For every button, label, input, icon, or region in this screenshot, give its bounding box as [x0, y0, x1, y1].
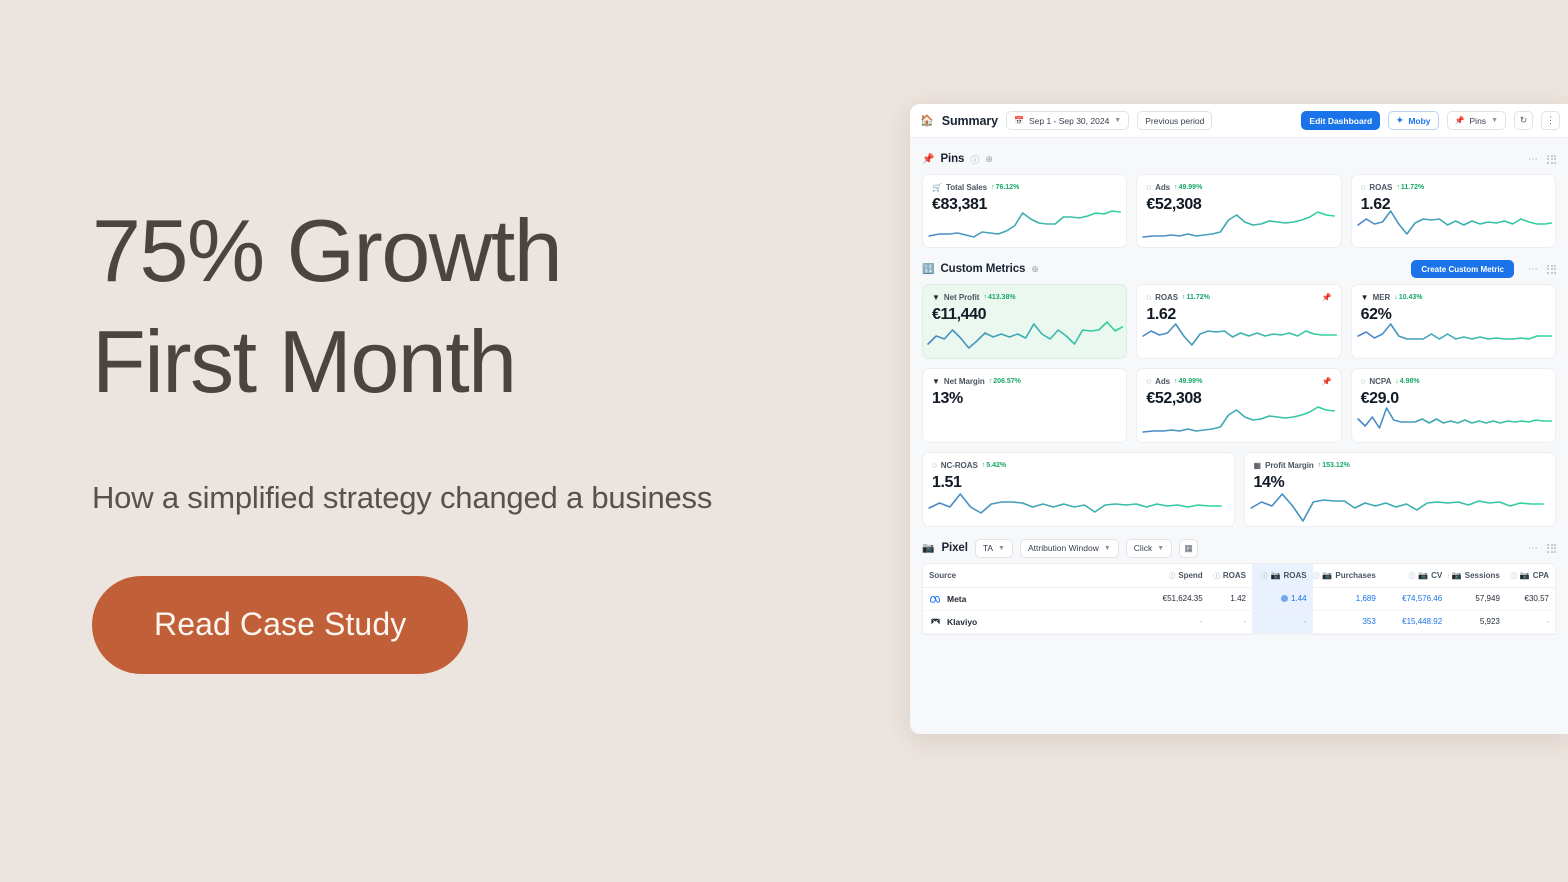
pixel-section-header: 📷 Pixel TA ▼ Attribution Window ▼ Click … — [922, 533, 1556, 563]
columns-icon[interactable]: ▦ — [1179, 539, 1198, 558]
cell-cpa: - — [1506, 610, 1555, 633]
cell-source: Meta — [923, 587, 1142, 610]
metric-card-header: ◌ Ads ↑49.99% 📌 — [1146, 376, 1331, 387]
table-header-row: Source ⓘSpend ⓘROAS ⓘ📷ROAS ⓘ📷Purchases ⓘ… — [923, 564, 1555, 587]
metric-card-header: ▼ Net Profit ↑413.38% — [932, 292, 1117, 303]
custom-metrics-row: ▼ Net Profit ↑413.38% €11,440 ◌ — [922, 284, 1556, 359]
ellipsis-icon[interactable]: ⋯ — [1528, 264, 1539, 275]
cell-cpa: €30.57 — [1506, 587, 1555, 610]
custom-metrics-row: ▼ Net Margin ↑206.57% 13% ◌ Ads ↑49.99% … — [922, 368, 1556, 443]
metric-card-header: ◌ ROAS ↑11.72% 📌 — [1146, 292, 1331, 303]
metric-delta: ↑49.99% — [1174, 378, 1202, 385]
custom-metrics-title: Custom Metrics — [940, 263, 1025, 275]
pixel-section-actions: ⋯ — [1528, 543, 1556, 554]
metric-card[interactable]: ◌ ROAS ↑11.72% 📌 1.62 — [1136, 284, 1341, 359]
pins-card-row: 🛒 Total Sales ↑76.12% €83,381 — [922, 174, 1556, 248]
comparison-label: Previous period — [1145, 116, 1204, 126]
grid-icon: ▦ — [1254, 462, 1262, 470]
sparkline-chart — [1245, 482, 1556, 526]
metric-card-header: 🛒 Total Sales ↑76.12% — [932, 182, 1117, 193]
metric-card[interactable]: ◌ NCPA ↓4.98% €29.0 — [1351, 368, 1556, 443]
custom-metrics-row: ◌ NC-ROAS ↑5.42% 1.51 ▦ — [922, 452, 1556, 527]
custom-metrics-section: 🔢 Custom Metrics ⊕ Create Custom Metric … — [910, 254, 1568, 527]
cell-spend: €51,624.35 — [1142, 587, 1208, 610]
sparkline-chart — [1352, 203, 1555, 247]
ellipsis-icon[interactable]: ⋯ — [1528, 543, 1539, 554]
info-icon: ⓘ — [1313, 570, 1320, 580]
calculator-icon: 🔢 — [922, 264, 934, 275]
klaviyo-logo-icon — [929, 616, 941, 628]
drag-grip-icon[interactable] — [1547, 155, 1556, 164]
sparkline-chart — [923, 314, 1126, 358]
landing-page: 75% Growth First Month How a simplified … — [0, 0, 1568, 882]
hero-subtitle: How a simplified strategy changed a busi… — [92, 476, 782, 520]
ta-dropdown[interactable]: TA ▼ — [975, 539, 1013, 558]
edit-dashboard-button[interactable]: Edit Dashboard — [1301, 111, 1380, 130]
metric-delta: ↑76.12% — [991, 184, 1019, 191]
cell-purchases: 1,689 — [1313, 587, 1382, 610]
loading-dots-icon: ◌ — [1361, 184, 1366, 192]
sparkline-chart — [1352, 398, 1555, 442]
metric-card[interactable]: ▼ Net Profit ↑413.38% €11,440 — [922, 284, 1127, 359]
custom-metrics-header: 🔢 Custom Metrics ⊕ Create Custom Metric … — [922, 254, 1556, 284]
loading-dots-icon: ◌ — [932, 462, 937, 470]
pixel-section-title: Pixel — [941, 542, 967, 554]
pixel-icon: 📷 — [1452, 571, 1462, 580]
metric-delta: ↑49.99% — [1174, 184, 1202, 191]
loading-dots-icon: ◌ — [1146, 184, 1151, 192]
metric-delta: ↑11.72% — [1182, 294, 1210, 301]
status-dot-icon — [1281, 595, 1288, 602]
date-range-picker[interactable]: 📅 Sep 1 - Sep 30, 2024 ▼ — [1006, 111, 1129, 130]
metric-card-header: ◌ Ads ↑49.99% — [1146, 182, 1331, 193]
metric-delta: ↑413.38% — [983, 294, 1015, 301]
chevron-down-icon: ▼ — [998, 545, 1005, 552]
info-icon: ⓘ — [1409, 570, 1416, 580]
loading-dots-icon: ◌ — [1146, 294, 1151, 302]
read-case-study-button[interactable]: Read Case Study — [92, 576, 468, 674]
sparkle-icon: ✦ — [1396, 115, 1403, 126]
home-icon[interactable]: 🏠 — [920, 114, 934, 127]
cell-sessions: 57,949 — [1448, 587, 1506, 610]
cell-pixel-roas: - — [1252, 610, 1313, 633]
pins-section: 📌 Pins ⓘ ⊕ ⋯ 🛒 Total Sales ↑76.12% — [910, 144, 1568, 248]
chevron-down-icon: ▼ — [1104, 545, 1111, 552]
pixel-section: 📷 Pixel TA ▼ Attribution Window ▼ Click … — [910, 533, 1568, 635]
hero-section: 75% Growth First Month How a simplified … — [92, 196, 852, 674]
shopify-bag-icon: 🛒 — [932, 184, 942, 192]
cell-sessions: 5,923 — [1448, 610, 1506, 633]
moby-label: Moby — [1408, 116, 1430, 126]
metric-card-header: ▦ Profit Margin ↑153.12% — [1254, 460, 1547, 471]
metric-card[interactable]: ▼ Net Margin ↑206.57% 13% — [922, 368, 1127, 443]
metric-card[interactable]: ▼ MER ↓10.43% 62% — [1351, 284, 1556, 359]
page-title: 75% Growth First Month — [92, 196, 852, 418]
pin-icon: 📌 — [1455, 116, 1465, 125]
table-row[interactable]: Meta €51,624.35 1.42 1.44 1,689 €74,576.… — [923, 587, 1555, 610]
metric-card-header: ◌ NCPA ↓4.98% — [1361, 376, 1546, 387]
loading-dots-icon: ◌ — [1146, 378, 1151, 386]
col-cv[interactable]: ⓘ📷CV — [1382, 564, 1448, 587]
help-circle-icon[interactable]: ⓘ — [970, 153, 979, 166]
pins-label: Pins — [1470, 116, 1487, 126]
metric-label: NCPA — [1369, 377, 1391, 386]
cell-source: Klaviyo — [923, 610, 1142, 633]
metric-label: Profit Margin — [1265, 461, 1314, 470]
click-model-label: Click — [1134, 543, 1152, 553]
plus-circle-icon[interactable]: ⊕ — [985, 154, 993, 165]
chevron-down-icon: ▼ — [1157, 545, 1164, 552]
pinned-icon[interactable]: 📌 — [1322, 293, 1332, 302]
create-custom-metric-button[interactable]: Create Custom Metric — [1411, 260, 1514, 278]
pins-section-title: Pins — [940, 153, 964, 165]
custom-metrics-actions: ⋯ — [1528, 264, 1556, 275]
metric-card-header: ◌ ROAS ↑11.72% — [1361, 182, 1546, 193]
metric-label: Net Margin — [944, 377, 985, 386]
pixel-icon: 📷 — [1322, 571, 1332, 580]
drag-grip-icon[interactable] — [1547, 265, 1556, 274]
drag-grip-icon[interactable] — [1547, 544, 1556, 553]
info-icon: ⓘ — [1169, 570, 1176, 580]
cell-roas: - — [1209, 610, 1252, 633]
pixel-table: Source ⓘSpend ⓘROAS ⓘ📷ROAS ⓘ📷Purchases ⓘ… — [922, 563, 1556, 635]
col-pixel-roas[interactable]: ⓘ📷ROAS — [1252, 564, 1313, 587]
metric-card[interactable]: 🛒 Total Sales ↑76.12% €83,381 — [922, 174, 1127, 248]
pixel-icon: 📷 — [1520, 571, 1530, 580]
metric-card[interactable]: ▦ Profit Margin ↑153.12% 14% — [1244, 452, 1557, 527]
date-range-label: Sep 1 - Sep 30, 2024 — [1029, 116, 1109, 126]
sparkline-chart — [1137, 203, 1340, 247]
metric-card[interactable]: ◌ Ads ↑49.99% 📌 €52,308 — [1136, 368, 1341, 443]
meta-logo-icon — [929, 593, 941, 605]
pinned-icon[interactable]: 📌 — [1322, 377, 1332, 386]
dashboard-topbar: 🏠 Summary 📅 Sep 1 - Sep 30, 2024 ▼ Previ… — [910, 104, 1568, 138]
col-spend[interactable]: ⓘSpend — [1142, 564, 1208, 587]
sparkline-chart — [923, 482, 1234, 526]
chevron-down-icon: ▼ — [1491, 117, 1498, 124]
ellipsis-icon[interactable]: ⋯ — [1528, 154, 1539, 165]
info-icon: ⓘ — [1213, 570, 1220, 580]
cell-purchases: 353 — [1313, 610, 1382, 633]
sparkline-chart — [1352, 314, 1555, 358]
source-name: Meta — [947, 594, 966, 604]
kebab-menu-icon[interactable]: ⋮ — [1541, 111, 1560, 130]
refresh-icon[interactable]: ↻ — [1514, 111, 1533, 130]
attribution-window-label: Attribution Window — [1028, 543, 1099, 553]
dashboard-panel: 🏠 Summary 📅 Sep 1 - Sep 30, 2024 ▼ Previ… — [910, 104, 1568, 734]
pin-icon: 📌 — [922, 154, 934, 165]
metric-label: NC-ROAS — [941, 461, 978, 470]
pixel-icon: 📷 — [922, 543, 934, 554]
edit-dashboard-label: Edit Dashboard — [1309, 116, 1372, 126]
metric-card-header: ◌ NC-ROAS ↑5.42% — [932, 460, 1225, 471]
attribution-window-dropdown[interactable]: Attribution Window ▼ — [1020, 539, 1119, 558]
cell-cv: €74,576.46 — [1382, 587, 1448, 610]
metric-card[interactable]: ◌ NC-ROAS ↑5.42% 1.51 — [922, 452, 1235, 527]
plus-circle-icon[interactable]: ⊕ — [1031, 264, 1039, 275]
metric-delta: ↑206.57% — [989, 378, 1021, 385]
pins-dropdown[interactable]: 📌 Pins ▼ — [1447, 111, 1506, 130]
cell-roas: 1.42 — [1209, 587, 1252, 610]
col-purchases[interactable]: ⓘ📷Purchases — [1313, 564, 1382, 587]
metric-delta: ↓4.98% — [1395, 378, 1419, 385]
ta-label: TA — [983, 543, 993, 553]
sparkline-chart — [1137, 314, 1340, 358]
dashboard-title: Summary — [942, 114, 998, 128]
funnel-icon: ▼ — [1361, 294, 1369, 302]
pixel-icon: 📷 — [1418, 571, 1428, 580]
metric-label: Net Profit — [944, 293, 980, 302]
col-cpa[interactable]: ⓘ📷CPA — [1506, 564, 1555, 587]
metric-label: Ads — [1155, 183, 1170, 192]
chevron-down-icon: ▼ — [1114, 117, 1121, 124]
pins-section-actions: ⋯ — [1528, 154, 1556, 165]
metric-value: 13% — [932, 390, 1117, 408]
sparkline-chart — [1137, 398, 1340, 442]
click-model-dropdown[interactable]: Click ▼ — [1126, 539, 1172, 558]
table-row[interactable]: Klaviyo - - - 353 €15,448.92 5,923 - — [923, 610, 1555, 633]
metric-card-header: ▼ MER ↓10.43% — [1361, 292, 1546, 303]
metric-delta: ↑11.72% — [1396, 184, 1424, 191]
source-name: Klaviyo — [947, 617, 977, 627]
metric-card[interactable]: ◌ ROAS ↑11.72% 1.62 — [1351, 174, 1556, 248]
moby-button[interactable]: ✦ Moby — [1388, 111, 1438, 130]
cell-spend: - — [1142, 610, 1208, 633]
loading-dots-icon: ◌ — [1361, 378, 1366, 386]
col-source[interactable]: Source — [923, 564, 1142, 587]
col-sessions[interactable]: ⓘ📷Sessions — [1448, 564, 1506, 587]
pins-section-header: 📌 Pins ⓘ ⊕ ⋯ — [922, 144, 1556, 174]
info-icon: ⓘ — [1261, 570, 1268, 580]
calendar-icon: 📅 — [1014, 116, 1024, 125]
metric-card-header: ▼ Net Margin ↑206.57% — [932, 376, 1117, 387]
metric-label: Total Sales — [946, 183, 987, 192]
info-icon: ⓘ — [1448, 570, 1449, 580]
funnel-icon: ▼ — [932, 378, 940, 386]
cell-cv: €15,448.92 — [1382, 610, 1448, 633]
pixel-icon: 📷 — [1270, 571, 1280, 580]
funnel-icon: ▼ — [932, 294, 940, 302]
info-icon: ⓘ — [1510, 570, 1517, 580]
metric-label: ROAS — [1369, 183, 1392, 192]
metric-delta: ↑5.42% — [982, 462, 1006, 469]
metric-card[interactable]: ◌ Ads ↑49.99% €52,308 — [1136, 174, 1341, 248]
metric-label: MER — [1373, 293, 1391, 302]
metric-label: Ads — [1155, 377, 1170, 386]
metric-label: ROAS — [1155, 293, 1178, 302]
metric-delta: ↓10.43% — [1394, 294, 1422, 301]
metric-delta: ↑153.12% — [1318, 462, 1350, 469]
sparkline-chart — [923, 203, 1126, 247]
comparison-period-button[interactable]: Previous period — [1137, 111, 1212, 130]
col-roas[interactable]: ⓘROAS — [1209, 564, 1252, 587]
cell-pixel-roas: 1.44 — [1252, 587, 1313, 610]
